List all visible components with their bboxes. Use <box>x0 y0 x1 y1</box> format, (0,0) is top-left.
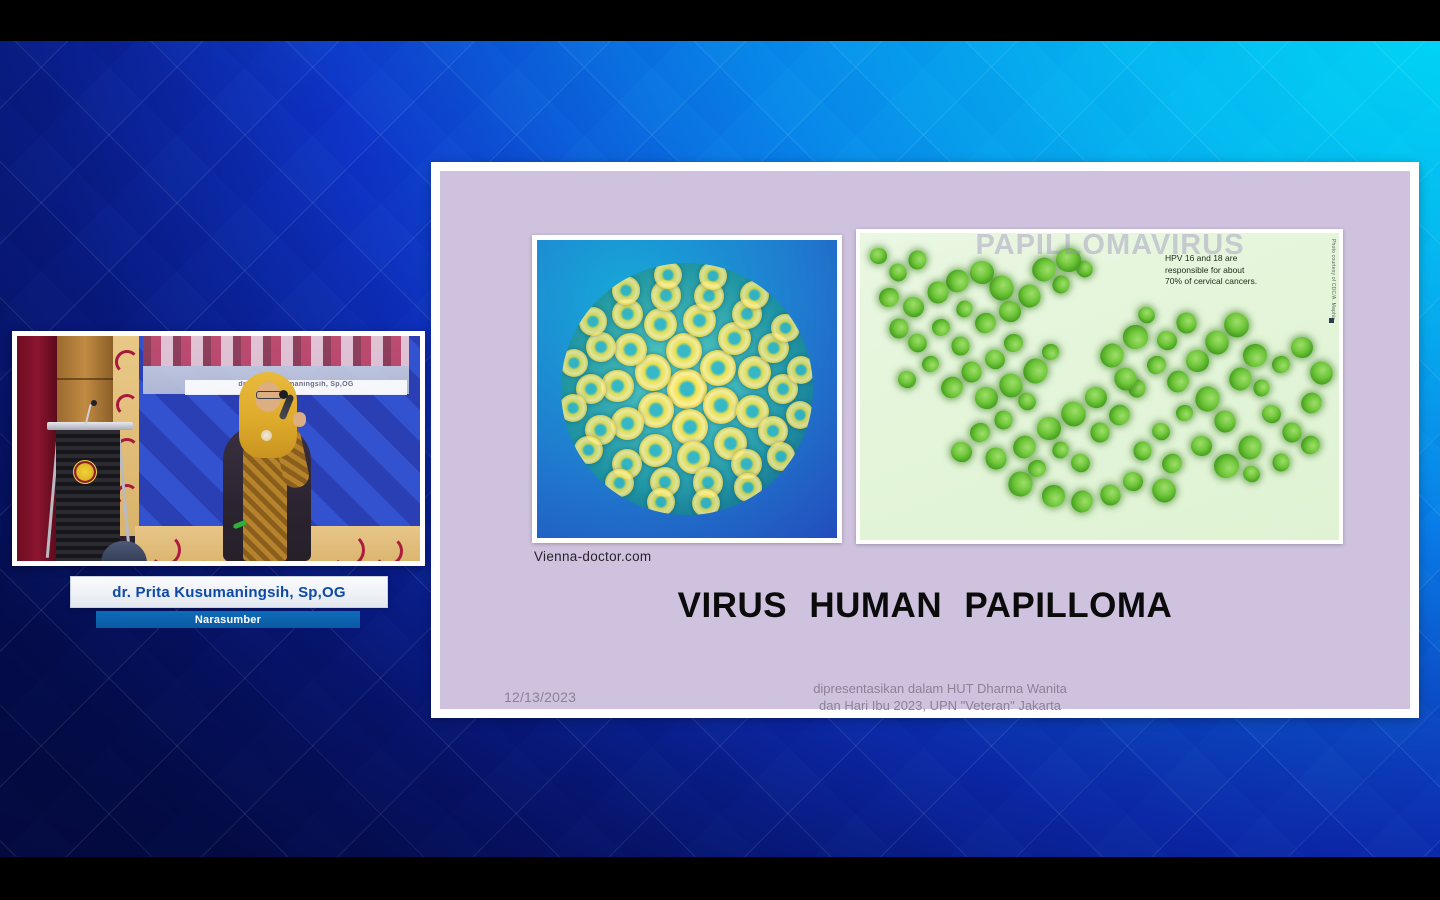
virion-particle <box>1297 388 1326 417</box>
slide-canvas: Vienna-doctor.com PAPILLOMAVIRUS HPV 16 … <box>440 171 1410 709</box>
capsomere <box>579 307 607 335</box>
virion-particle <box>1211 451 1242 481</box>
virion-particle <box>1001 332 1025 355</box>
virion-particle <box>1188 433 1213 457</box>
virion-particle <box>1083 384 1109 409</box>
virion-particle <box>1192 383 1223 414</box>
presenter-video-panel[interactable]: dr. Prita Kusumaningsih, Sp,OG <box>12 331 425 566</box>
capsomere <box>611 407 644 440</box>
capsomere <box>654 263 682 289</box>
virion-particle <box>1162 366 1192 396</box>
virion-particle <box>886 260 910 285</box>
virion-particle <box>1240 463 1263 486</box>
virion-particle <box>1272 453 1289 471</box>
left-image-caption: Vienna-doctor.com <box>534 549 651 564</box>
capsomere <box>740 281 768 309</box>
floor-swirl <box>373 536 403 561</box>
virion-particle <box>895 368 919 391</box>
virion-particle <box>1235 432 1265 462</box>
hpv-micrograph-image: PAPILLOMAVIRUS HPV 16 and 18 are respons… <box>860 233 1339 540</box>
micrograph-caption: HPV 16 and 18 are responsible for about … <box>1165 253 1325 288</box>
slide-footer: dipresentasikan dalam HUT Dharma Wanita … <box>730 681 1150 714</box>
presenter-figure <box>217 364 317 561</box>
virion-particle <box>973 384 1000 410</box>
virion-particle <box>948 438 975 465</box>
virion-particle <box>1041 484 1066 508</box>
virion-particle <box>981 346 1008 373</box>
virion-particle <box>876 285 901 310</box>
virion-particle <box>1175 310 1199 335</box>
virion-particle <box>971 309 999 337</box>
institution-emblem <box>73 460 97 484</box>
micrograph-caption-line-3: 70% of cervical cancers. <box>1165 276 1325 288</box>
presenter-video-feed[interactable]: dr. Prita Kusumaningsih, Sp,OG <box>17 336 420 561</box>
virion-particle <box>950 335 971 357</box>
capsomere <box>601 370 634 403</box>
virion-particle <box>1269 353 1293 376</box>
virion-particle <box>1158 450 1186 477</box>
micrograph-caption-line-2: responsible for about <box>1165 265 1325 277</box>
virion-particle <box>1242 342 1269 368</box>
capsomere <box>561 394 587 422</box>
podium-body <box>56 430 120 561</box>
virion-particle <box>1067 487 1096 517</box>
virion-particle <box>1090 422 1110 443</box>
virion-particle <box>1096 339 1128 371</box>
presenter-name: dr. Prita Kusumaningsih, Sp,OG <box>112 584 346 601</box>
virion-particle <box>1122 323 1150 350</box>
capsid-sphere <box>561 263 813 515</box>
letterbox-bottom <box>0 857 1440 900</box>
ornament-swirl <box>115 350 139 374</box>
virion-particle <box>983 445 1009 471</box>
virion-particle <box>953 297 975 319</box>
capsomere <box>574 436 602 464</box>
virion-particle <box>870 248 887 264</box>
virion-particle <box>1105 400 1134 429</box>
slide-date: 12/13/2023 <box>504 689 576 705</box>
microphone-head-icon <box>91 400 97 406</box>
virion-particle <box>1148 473 1181 506</box>
capsomere <box>692 489 720 515</box>
slide-image-micrograph-frame: PAPILLOMAVIRUS HPV 16 and 18 are respons… <box>856 229 1343 544</box>
virion-particle <box>1050 273 1072 295</box>
microphone-capsule-icon <box>279 390 288 399</box>
virion-particle <box>888 318 909 340</box>
virion-particle <box>927 281 950 305</box>
virion-particle <box>904 330 930 356</box>
capsomere <box>699 263 727 290</box>
virion-particle <box>1185 349 1209 372</box>
virion-particle <box>1144 352 1169 377</box>
virion-particle <box>1121 470 1145 494</box>
virion-particle <box>1290 337 1313 359</box>
virion-particle <box>1306 357 1337 388</box>
virion-particle <box>1041 342 1060 360</box>
virion-particle <box>1280 421 1303 445</box>
letterbox-top <box>0 0 1440 41</box>
virion-particle <box>1252 379 1270 398</box>
virion-particle <box>1154 328 1180 353</box>
presenter-role-banner: Narasumber <box>96 611 360 628</box>
wood-wall-seam <box>57 378 113 380</box>
micrograph-caption-line-1: HPV 16 and 18 are <box>1165 253 1325 265</box>
capsomere <box>672 409 708 445</box>
slide-image-capsid-frame <box>532 235 842 543</box>
capsomere <box>586 332 616 362</box>
virion-particle <box>994 410 1014 431</box>
virion-particle <box>1211 407 1239 435</box>
capsomere <box>561 349 588 377</box>
virion-particle <box>1097 481 1123 508</box>
virion-particle <box>967 420 994 446</box>
virion-particle <box>1067 450 1093 476</box>
presenter-role: Narasumber <box>195 614 261 626</box>
floor-swirl <box>331 533 365 561</box>
virion-particle <box>1174 403 1195 423</box>
virion-particle <box>960 361 981 383</box>
capsomere <box>703 387 739 423</box>
capsomere <box>787 356 813 384</box>
presenter-hand <box>293 412 306 427</box>
podium-top <box>47 422 133 430</box>
virion-particle <box>1037 417 1062 441</box>
stray-mark <box>1329 318 1334 323</box>
presenter-name-banner: dr. Prita Kusumaningsih, Sp,OG <box>70 576 388 608</box>
presenter-brooch <box>261 430 272 441</box>
capsomere <box>614 333 647 366</box>
virion-particle <box>920 353 942 375</box>
virion-particle <box>1135 303 1158 326</box>
slide-footer-line-2: dan Hari Ibu 2023, UPN "Veteran" Jakarta <box>730 698 1150 715</box>
floor-swirl <box>149 534 181 561</box>
capsomere <box>767 442 795 470</box>
virion-particle <box>1133 441 1152 461</box>
slide-footer-line-1: dipresentasikan dalam HUT Dharma Wanita <box>730 681 1150 698</box>
capsomere <box>700 350 736 386</box>
virion-particle <box>931 318 952 338</box>
capsomere <box>771 314 799 342</box>
hpv-capsid-image <box>537 240 837 538</box>
presentation-slide-panel: Vienna-doctor.com PAPILLOMAVIRUS HPV 16 … <box>431 162 1419 718</box>
virion-particle <box>1009 431 1041 463</box>
virion-particle <box>1225 364 1256 395</box>
video-stream-stage: Vienna-doctor.com PAPILLOMAVIRUS HPV 16 … <box>0 0 1440 900</box>
capsomere <box>639 434 672 467</box>
projection-screen-content <box>143 336 409 366</box>
virion-particle <box>1149 420 1173 444</box>
ornament-swirl <box>116 394 138 416</box>
capsomere <box>605 469 633 497</box>
capsomere <box>786 401 813 429</box>
capsomere <box>666 333 702 369</box>
capsomere <box>647 488 675 515</box>
slide-title: VIRUS HUMAN PAPILLOMA <box>440 586 1410 626</box>
virion-particle <box>899 293 927 321</box>
capsomere <box>734 473 762 501</box>
virion-particle <box>1050 439 1070 460</box>
virion-particle <box>1259 402 1284 426</box>
capsomere <box>612 276 640 304</box>
